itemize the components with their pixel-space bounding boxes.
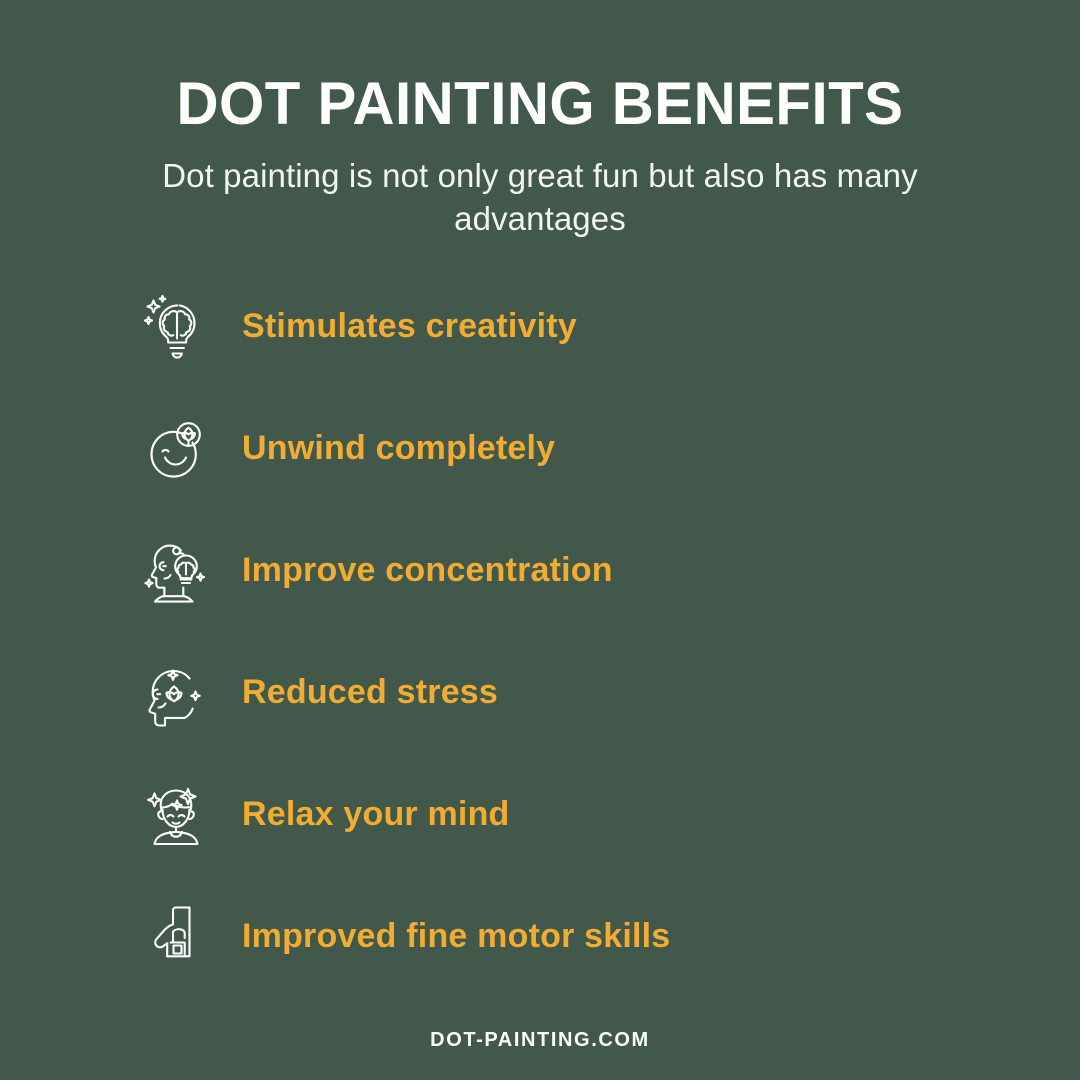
relaxed-face-sparkles-icon xyxy=(138,777,214,853)
poster-header: DOT PAINTING BENEFITS Dot painting is no… xyxy=(0,0,1080,241)
hand-holding-block-icon xyxy=(138,899,214,975)
list-item-label: Improved fine motor skills xyxy=(242,917,670,956)
list-item: Improved fine motor skills xyxy=(138,887,670,987)
poster-footer: DOT-PAINTING.COM xyxy=(0,1029,1080,1052)
head-profile-lightbulb-icon xyxy=(138,533,214,609)
benefits-list: Stimulates creativity Unwind completely xyxy=(0,277,1080,1009)
list-item: Relax your mind xyxy=(138,765,510,865)
list-item: Reduced stress xyxy=(138,643,498,743)
lightbulb-brain-icon xyxy=(138,289,214,365)
footer-website: DOT-PAINTING.COM xyxy=(430,1029,650,1051)
page-subtitle: Dot painting is not only great fun but a… xyxy=(145,155,935,241)
list-item-label: Improve concentration xyxy=(242,551,613,590)
list-item: Unwind completely xyxy=(138,399,555,499)
list-item-label: Stimulates creativity xyxy=(242,307,577,346)
smiling-face-flower-icon xyxy=(138,411,214,487)
list-item-label: Reduced stress xyxy=(242,673,498,712)
list-item-label: Unwind completely xyxy=(242,429,555,468)
infographic-poster: DOT PAINTING BENEFITS Dot painting is no… xyxy=(0,0,1080,1080)
list-item: Stimulates creativity xyxy=(138,277,577,377)
head-lotus-icon xyxy=(138,655,214,731)
page-title: DOT PAINTING BENEFITS xyxy=(16,72,1064,135)
list-item-label: Relax your mind xyxy=(242,795,510,834)
list-item: Improve concentration xyxy=(138,521,613,621)
